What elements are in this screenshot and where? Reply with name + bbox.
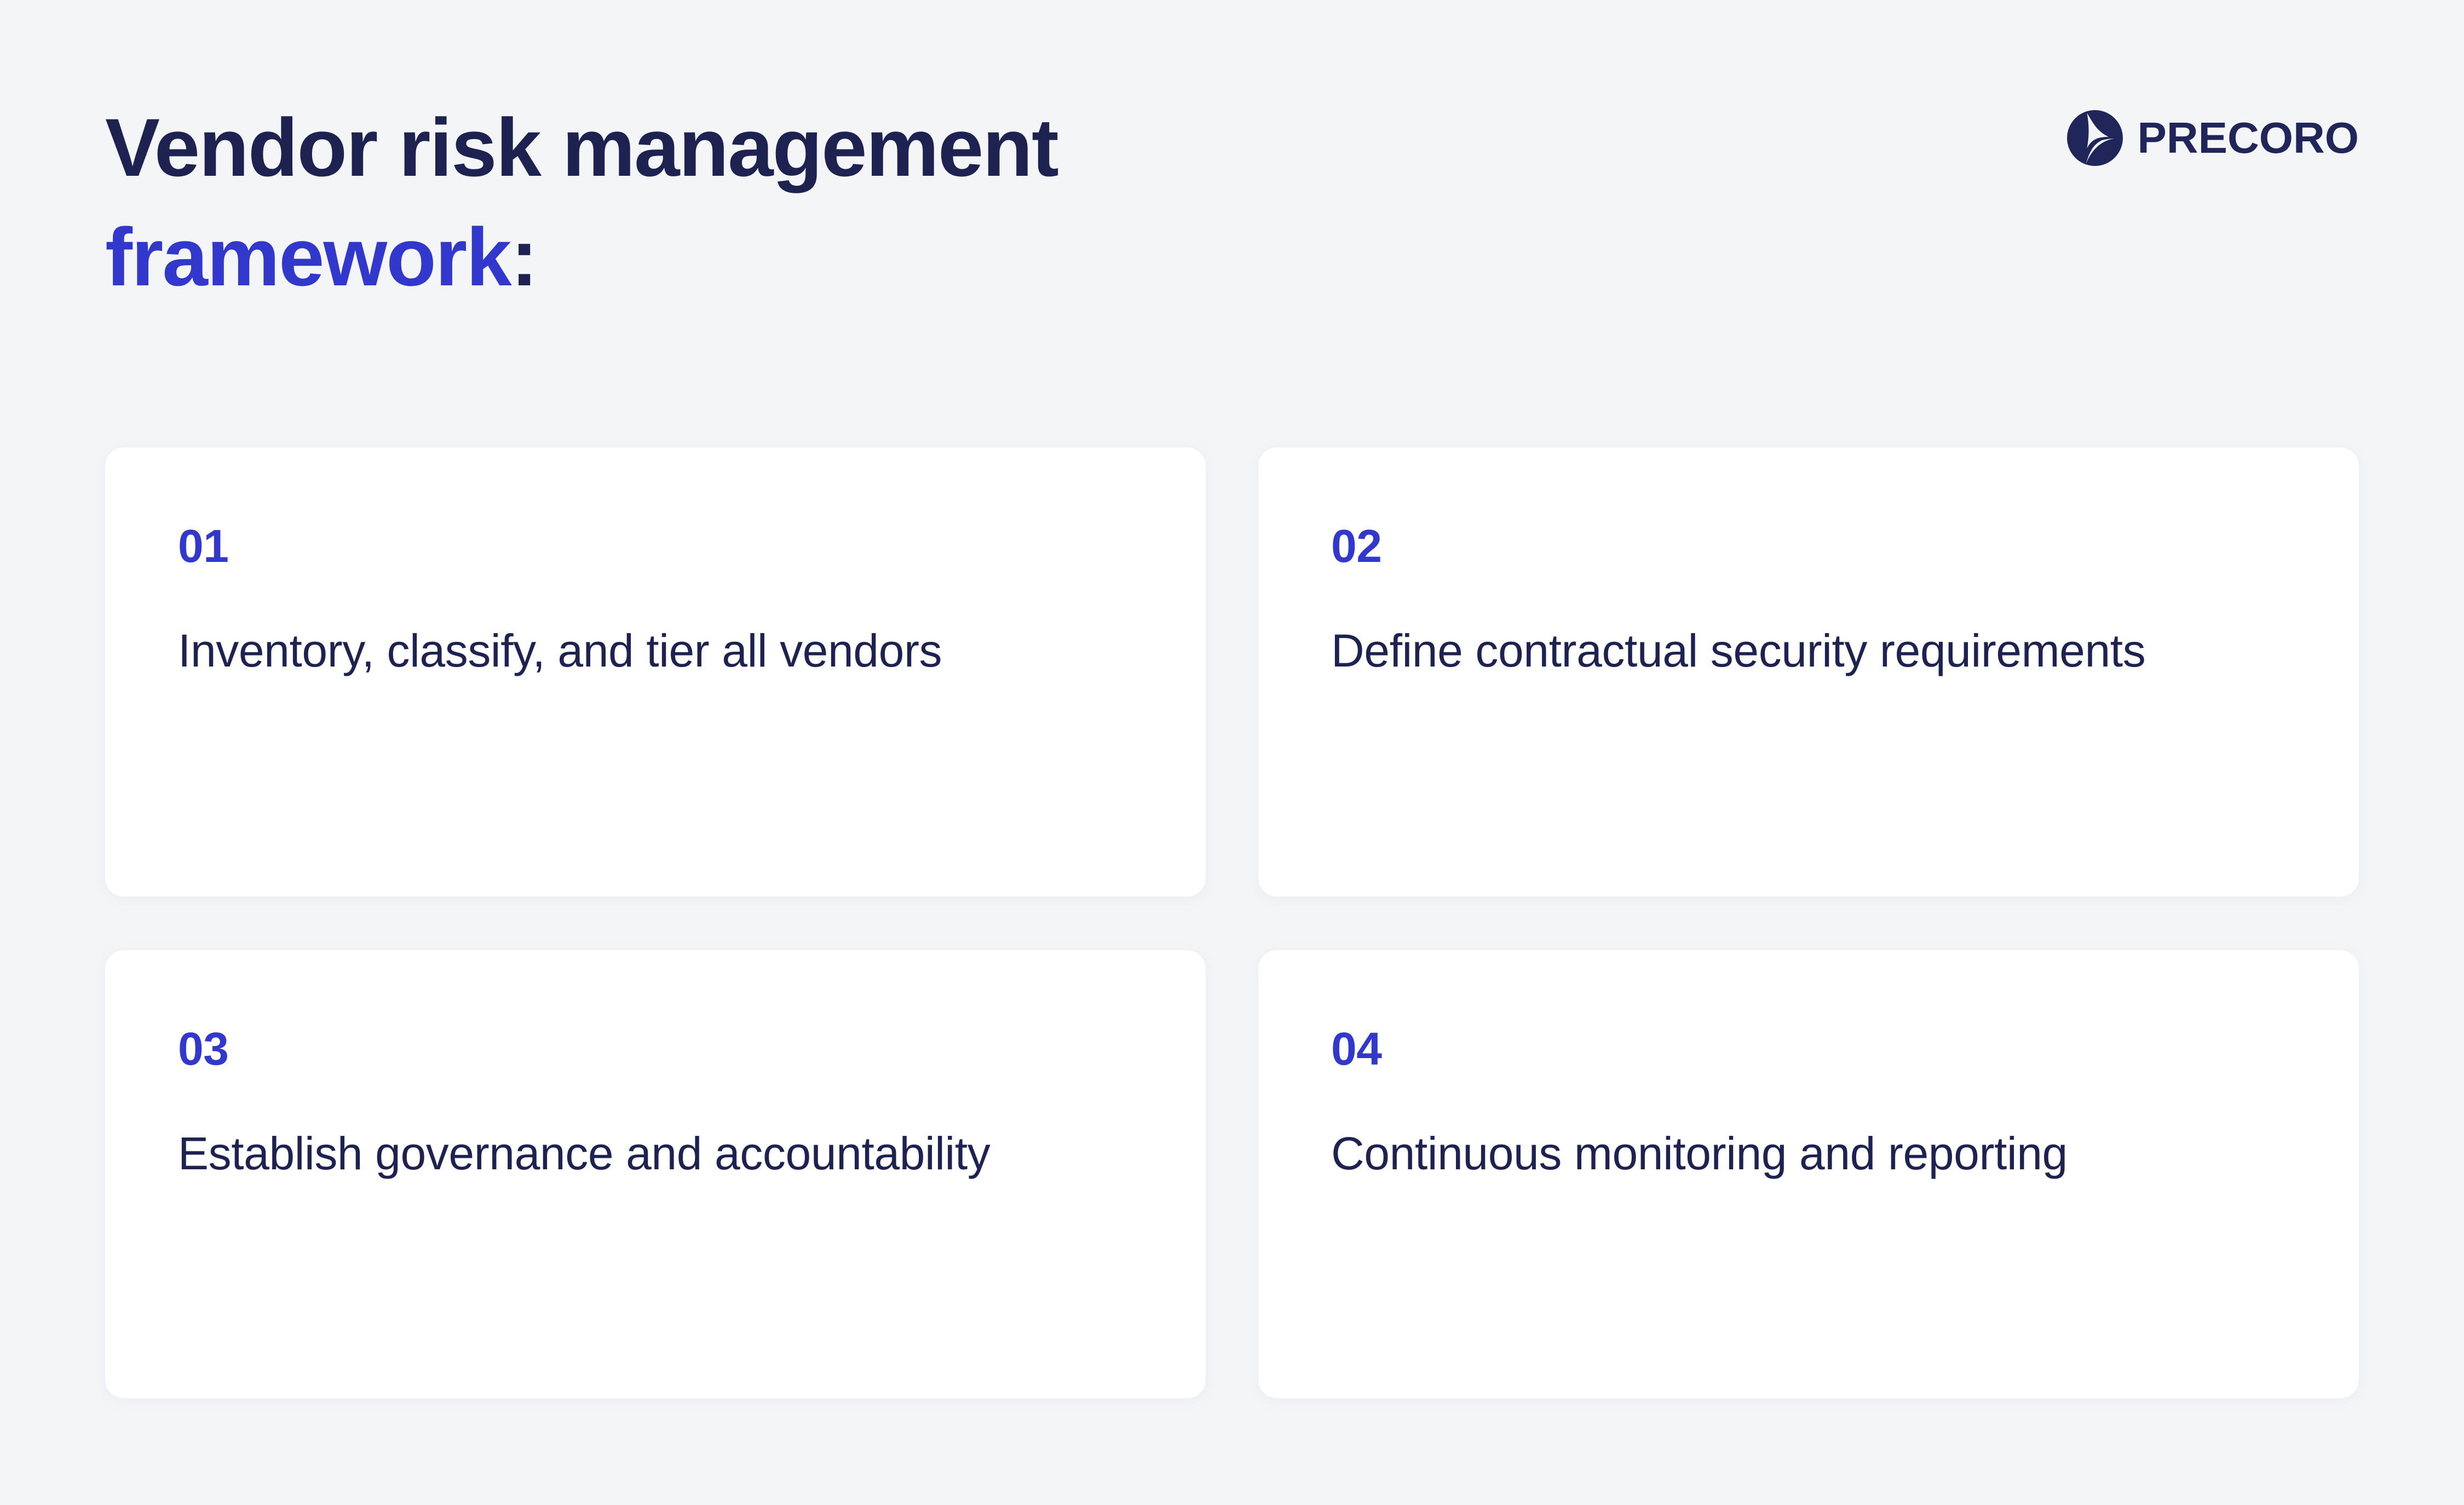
page-header: Vendor risk managementframework: PRECORO [105, 93, 2359, 334]
framework-card-grid: 01 Inventory, classify, and tier all ven… [105, 447, 2359, 1398]
card-number: 02 [1331, 523, 2293, 569]
card-number: 03 [178, 1026, 1140, 1072]
page-title-accent: framework [105, 211, 511, 303]
card-text: Inventory, classify, and tier all vendor… [178, 618, 1010, 683]
card-text: Define contractual security requirements [1331, 618, 2163, 683]
page-title-line-1: Vendor risk management [105, 101, 1058, 193]
framework-card-04: 04 Continuous monitoring and reporting [1258, 950, 2359, 1398]
page-title: Vendor risk managementframework: [105, 93, 1058, 312]
page-title-colon: : [511, 211, 537, 303]
precoro-logo: PRECORO [2066, 110, 2359, 166]
precoro-wordmark: PRECORO [2138, 116, 2359, 160]
card-text: Establish governance and accountability [178, 1121, 1010, 1186]
infographic-page: Vendor risk managementframework: PRECORO… [0, 0, 2464, 1505]
card-text: Continuous monitoring and reporting [1331, 1121, 2163, 1186]
card-number: 04 [1331, 1026, 2293, 1072]
framework-card-02: 02 Define contractual security requireme… [1258, 447, 2359, 897]
framework-card-01: 01 Inventory, classify, and tier all ven… [105, 447, 1206, 897]
card-number: 01 [178, 523, 1140, 569]
precoro-play-circle-icon [2066, 110, 2123, 166]
framework-card-03: 03 Establish governance and accountabili… [105, 950, 1206, 1398]
